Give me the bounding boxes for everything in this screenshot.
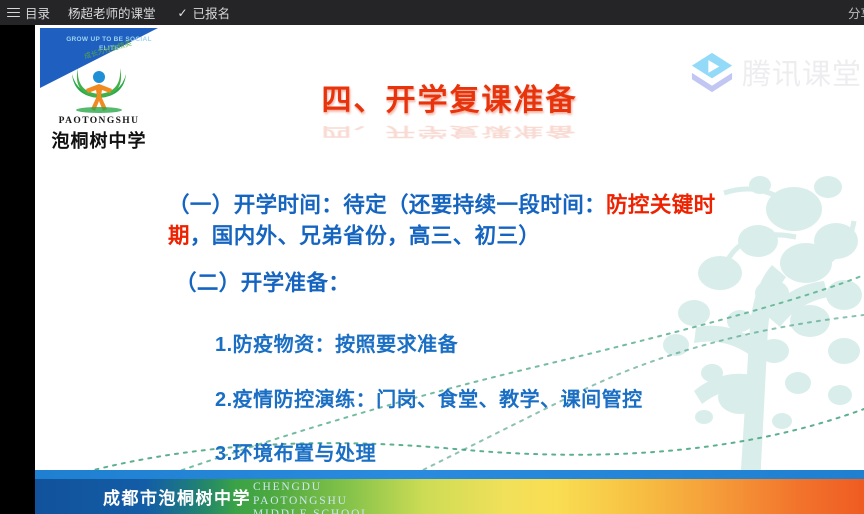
slide-canvas[interactable]: 腾讯课堂 GROW UP TO BE SOCIAL ELITE 成长为社会精英 … — [35, 25, 864, 514]
list-item: 3.环境布置与处理 — [215, 437, 376, 466]
slide-title: 四、开学复课准备 — [35, 75, 864, 119]
slide-footer-banner: 成都市泡桐树中学 CHENGDU PAOTONGSHU MIDDLE SCHOO… — [35, 470, 864, 514]
footer-school-name-en: CHENGDU PAOTONGSHU MIDDLE SCHOOL — [253, 481, 370, 514]
list-item: 1.防疫物资：按照要求准备 — [215, 328, 458, 357]
enrolled-label: 已报名 — [193, 3, 231, 22]
topbar-left-group: 目录 杨超老师的课堂 ✓ 已报名 — [0, 3, 230, 22]
list-item: 2.疫情防控演练：门岗、食堂、教学、课间管控 — [215, 383, 643, 412]
footer-blue-stripe — [35, 470, 864, 479]
footer-school-name-cn: 成都市泡桐树中学 — [103, 484, 251, 509]
footer-en-line-2: PAOTONGSHU — [253, 495, 370, 509]
player-topbar: 目录 杨超老师的课堂 ✓ 已报名 分享 — [0, 0, 864, 25]
player-root: 目录 杨超老师的课堂 ✓ 已报名 分享 — [0, 0, 864, 514]
enrolled-status: ✓ 已报名 — [178, 3, 231, 22]
share-button[interactable]: 分享 — [848, 3, 864, 22]
course-title-label: 杨超老师的课堂 — [68, 3, 156, 22]
paragraph-1-tail: ，国内外、兄弟省份，高三、初三） — [190, 224, 540, 248]
hamburger-icon — [7, 8, 20, 18]
paragraph-opening-date: （一）开学时间：待定（还要持续一段时间：防控关键时期，国内外、兄弟省份，高三、初… — [168, 190, 748, 252]
catalog-label: 目录 — [25, 3, 50, 22]
slide-title-reflection: 四、开学复课准备 — [35, 123, 864, 143]
paragraph-1-lead: （一）开学时间：待定（还要持续一段时间： — [168, 193, 606, 217]
course-title[interactable]: 杨超老师的课堂 — [68, 3, 156, 22]
footer-en-line-3: MIDDLE SCHOOL — [253, 508, 370, 514]
footer-en-line-1: CHENGDU — [253, 481, 370, 495]
check-icon: ✓ — [178, 6, 188, 20]
catalog-button[interactable]: 目录 — [7, 3, 50, 22]
topbar-right-group: 分享 — [848, 0, 864, 25]
paragraph-preparation-heading: （二）开学准备： — [175, 268, 350, 299]
